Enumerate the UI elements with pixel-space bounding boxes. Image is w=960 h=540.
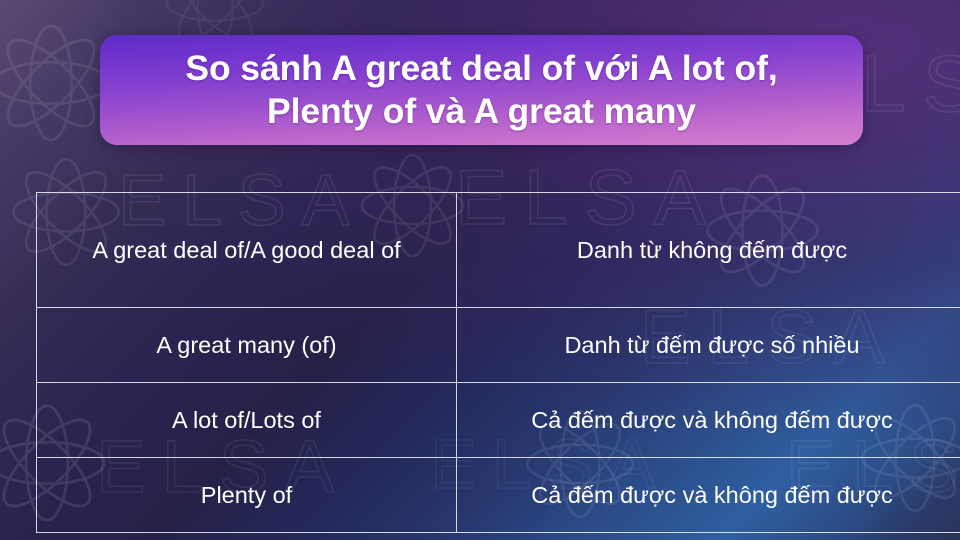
expression-cell: Plenty of xyxy=(37,458,457,533)
expression-cell: A great deal of/A good deal of xyxy=(37,193,457,308)
expression-cell: A lot of/Lots of xyxy=(37,383,457,458)
slide-canvas: ELSA ELSA ELSA ELSA ELSA ELSA ELSA So sá… xyxy=(0,0,960,540)
noun-type-cell: Danh từ đếm được số nhiều xyxy=(457,308,960,383)
table-row: Plenty of Cả đếm được và không đếm được xyxy=(37,458,960,533)
title-line-1: So sánh A great deal of với A lot of, xyxy=(185,48,777,88)
title-line-2: Plenty of và A great many xyxy=(267,91,696,131)
expression-cell: A great many (of) xyxy=(37,308,457,383)
noun-type-cell: Danh từ không đếm được xyxy=(457,193,960,308)
noun-type-cell: Cả đếm được và không đếm được xyxy=(457,383,960,458)
noun-type-cell: Cả đếm được và không đếm được xyxy=(457,458,960,533)
title-banner: So sánh A great deal of với A lot of, Pl… xyxy=(100,35,863,145)
comparison-table: A great deal of/A good deal of Danh từ k… xyxy=(36,192,960,533)
table-row: A lot of/Lots of Cả đếm được và không đế… xyxy=(37,383,960,458)
table-row: A great many (of) Danh từ đếm được số nh… xyxy=(37,308,960,383)
star-watermark-icon xyxy=(0,18,116,148)
page-title: So sánh A great deal of với A lot of, Pl… xyxy=(167,47,795,134)
table-body: A great deal of/A good deal of Danh từ k… xyxy=(37,193,960,533)
table-row: A great deal of/A good deal of Danh từ k… xyxy=(37,193,960,308)
